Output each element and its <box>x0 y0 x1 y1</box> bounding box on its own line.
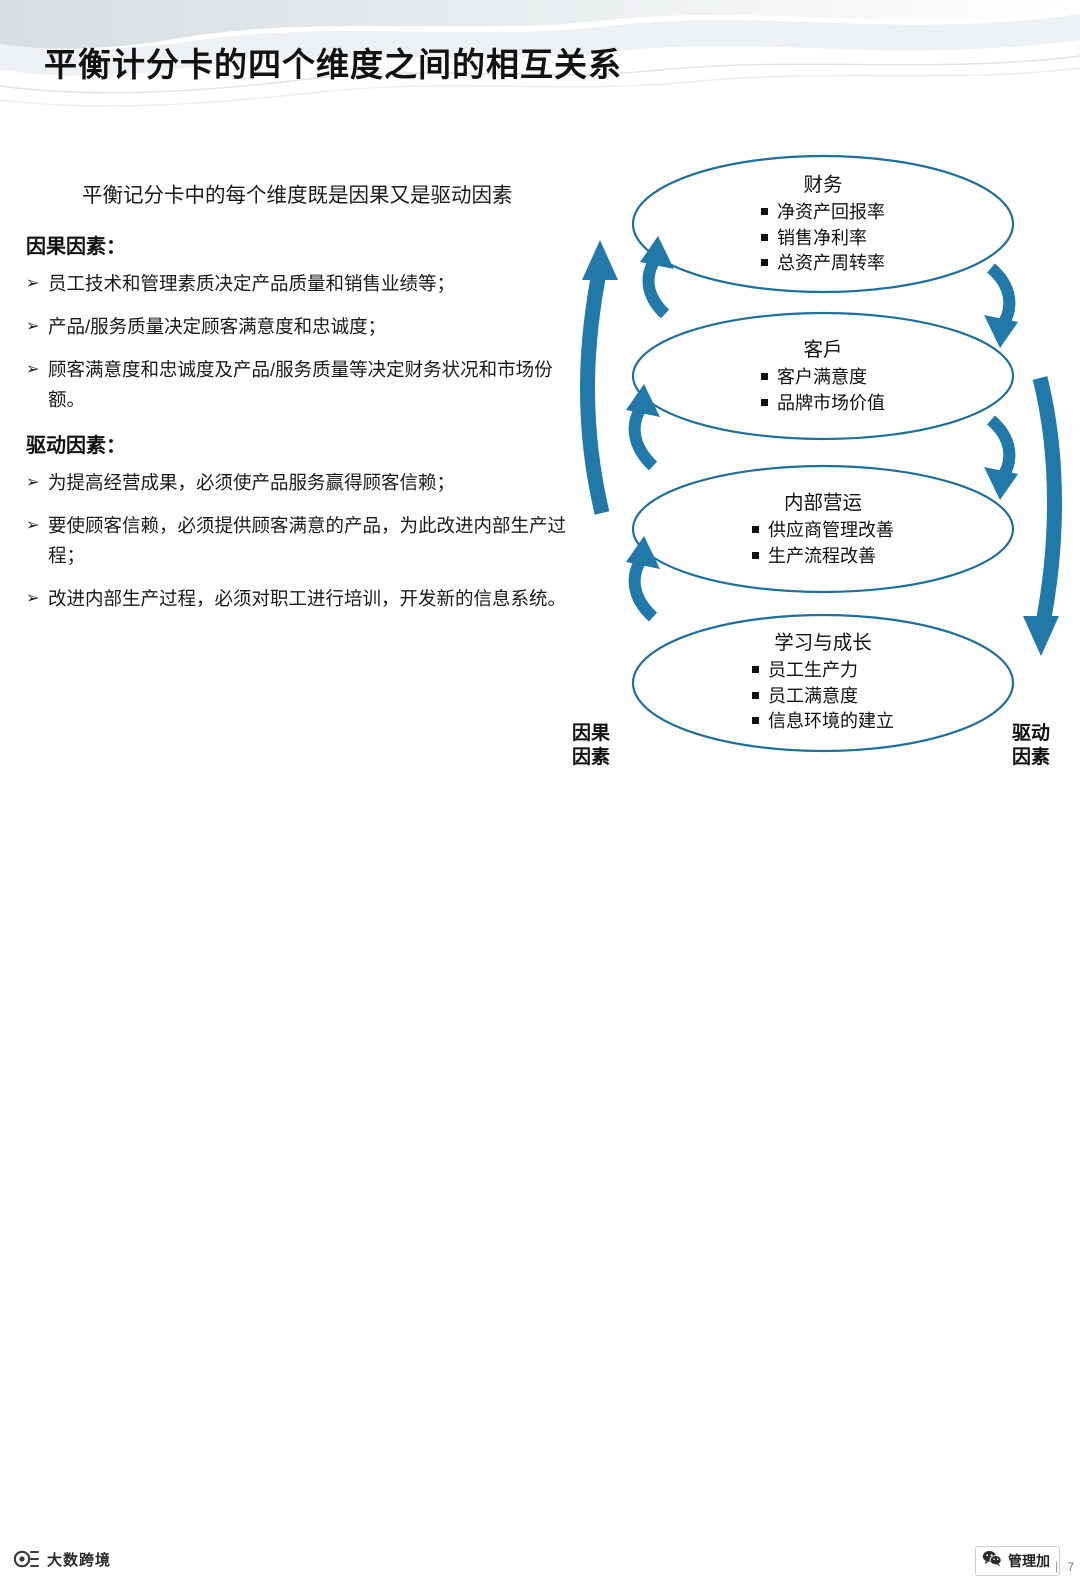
logo-mark-icon <box>14 1548 40 1570</box>
bullet-square-icon <box>761 373 768 380</box>
footer-bar: 大数跨境 管理加 | 7 <box>0 770 1080 810</box>
node-item-text: 员工生产力 <box>768 660 858 680</box>
page-number: 7 <box>1067 1560 1074 1574</box>
label-cause-line1: 因果 <box>572 722 610 746</box>
label-driver-factor: 驱动 因素 <box>1012 722 1050 771</box>
bullet-square-icon <box>761 399 768 406</box>
node-item-list: 客户满意度 品牌市场价值 <box>761 365 885 416</box>
node-item: 员工生产力 <box>752 658 894 684</box>
list-item: ➢ 产品/服务质量决定顾客满意度和忠诚度； <box>26 312 586 342</box>
node-learning-growth: 学习与成长 员工生产力 员工满意度 信息环境的建立 <box>623 626 1023 735</box>
node-title: 客戶 <box>623 333 1023 362</box>
node-item: 生产流程改善 <box>752 544 894 570</box>
node-title: 学习与成长 <box>623 626 1023 655</box>
list-item: ➢ 顾客满意度和忠诚度及产品/服务质量等决定财务状况和市场份额。 <box>26 355 586 415</box>
page-number-divider: | <box>1055 1559 1058 1573</box>
node-item-text: 信息环境的建立 <box>768 711 894 731</box>
wechat-account-name: 管理加 <box>1008 1551 1050 1571</box>
node-item-list: 供应商管理改善 生产流程改善 <box>752 518 894 569</box>
list-item-text: 要使顾客信赖，必须提供顾客满意的产品，为此改进内部生产过程； <box>48 511 586 571</box>
lead-paragraph: 平衡记分卡中的每个维度既是因果又是驱动因素 <box>26 176 586 216</box>
section-heading-driver: 驱动因素： <box>26 429 586 458</box>
label-cause-factor: 因果 因素 <box>572 722 610 771</box>
node-item: 信息环境的建立 <box>752 709 894 735</box>
node-title: 内部营运 <box>623 486 1023 515</box>
label-driver-line1: 驱动 <box>1012 722 1050 746</box>
node-item-text: 客户满意度 <box>777 367 867 387</box>
list-item-text: 员工技术和管理素质决定产品质量和销售业绩等； <box>48 269 455 299</box>
list-item-text: 产品/服务质量决定顾客满意度和忠诚度； <box>48 312 386 342</box>
node-item-text: 供应商管理改善 <box>768 520 894 540</box>
node-item-list: 员工生产力 员工满意度 信息环境的建立 <box>752 658 894 735</box>
node-item-text: 总资产周转率 <box>777 253 885 273</box>
node-item-text: 生产流程改善 <box>768 546 876 566</box>
node-title: 财务 <box>623 168 1023 197</box>
bullet-arrow-icon: ➢ <box>26 468 48 496</box>
list-item-text: 为提高经营成果，必须使产品服务赢得顾客信赖； <box>48 468 455 498</box>
section-heading-cause: 因果因素： <box>26 230 586 259</box>
node-item-text: 净资产回报率 <box>777 202 885 222</box>
page-title: 平衡计分卡的四个维度之间的相互关系 <box>44 38 622 86</box>
bullet-square-icon <box>761 259 768 266</box>
wechat-account-badge: 管理加 <box>975 1546 1060 1576</box>
bullet-square-icon <box>752 692 759 699</box>
header-banner: 平衡计分卡的四个维度之间的相互关系 <box>0 0 1080 128</box>
node-item: 供应商管理改善 <box>752 518 894 544</box>
bullet-arrow-icon: ➢ <box>26 584 48 612</box>
bullet-square-icon <box>761 234 768 241</box>
node-item: 净资产回报率 <box>761 200 885 226</box>
node-item: 员工满意度 <box>752 684 894 710</box>
logo-text: 大数跨境 <box>47 1549 111 1570</box>
site-logo: 大数跨境 <box>14 1548 111 1570</box>
node-item-text: 员工满意度 <box>768 686 858 706</box>
bullet-arrow-icon: ➢ <box>26 269 48 297</box>
bullet-arrow-icon: ➢ <box>26 355 48 383</box>
arrow-cause-long-up <box>582 240 618 513</box>
node-item: 销售净利率 <box>761 226 885 252</box>
list-item: ➢ 员工技术和管理素质决定产品质量和销售业绩等； <box>26 269 586 299</box>
bullet-arrow-icon: ➢ <box>26 312 48 340</box>
label-driver-line2: 因素 <box>1012 746 1050 770</box>
bullet-square-icon <box>752 526 759 533</box>
node-internal-operations: 内部营运 供应商管理改善 生产流程改善 <box>623 486 1023 569</box>
list-item: ➢ 要使顾客信赖，必须提供顾客满意的产品，为此改进内部生产过程； <box>26 511 586 571</box>
label-cause-line2: 因素 <box>572 746 610 770</box>
bullet-arrow-icon: ➢ <box>26 511 48 539</box>
node-customer: 客戶 客户满意度 品牌市场价值 <box>623 333 1023 416</box>
node-item-text: 品牌市场价值 <box>777 393 885 413</box>
node-item: 客户满意度 <box>761 365 885 391</box>
wechat-icon <box>982 1550 1002 1572</box>
node-item-list: 净资产回报率 销售净利率 总资产周转率 <box>761 200 885 277</box>
arrow-driver-long-down <box>1023 378 1059 656</box>
node-finance: 财务 净资产回报率 销售净利率 总资产周转率 <box>623 168 1023 277</box>
list-item: ➢ 改进内部生产过程，必须对职工进行培训，开发新的信息系统。 <box>26 584 586 614</box>
list-item: ➢ 为提高经营成果，必须使产品服务赢得顾客信赖； <box>26 468 586 498</box>
bullet-square-icon <box>752 666 759 673</box>
list-item-text: 改进内部生产过程，必须对职工进行培训，开发新的信息系统。 <box>48 584 566 614</box>
list-item-text: 顾客满意度和忠诚度及产品/服务质量等决定财务状况和市场份额。 <box>48 355 586 415</box>
bullet-square-icon <box>761 208 768 215</box>
bullet-square-icon <box>752 552 759 559</box>
bullet-square-icon <box>752 717 759 724</box>
node-item: 总资产周转率 <box>761 251 885 277</box>
bsc-relationship-diagram: 财务 净资产回报率 销售净利率 总资产周转率 客戶 客户满意度 品牌市场价值 内… <box>560 128 1080 768</box>
node-item-text: 销售净利率 <box>777 228 867 248</box>
left-text-column: 平衡记分卡中的每个维度既是因果又是驱动因素 因果因素： ➢ 员工技术和管理素质决… <box>26 176 586 627</box>
node-item: 品牌市场价值 <box>761 391 885 417</box>
